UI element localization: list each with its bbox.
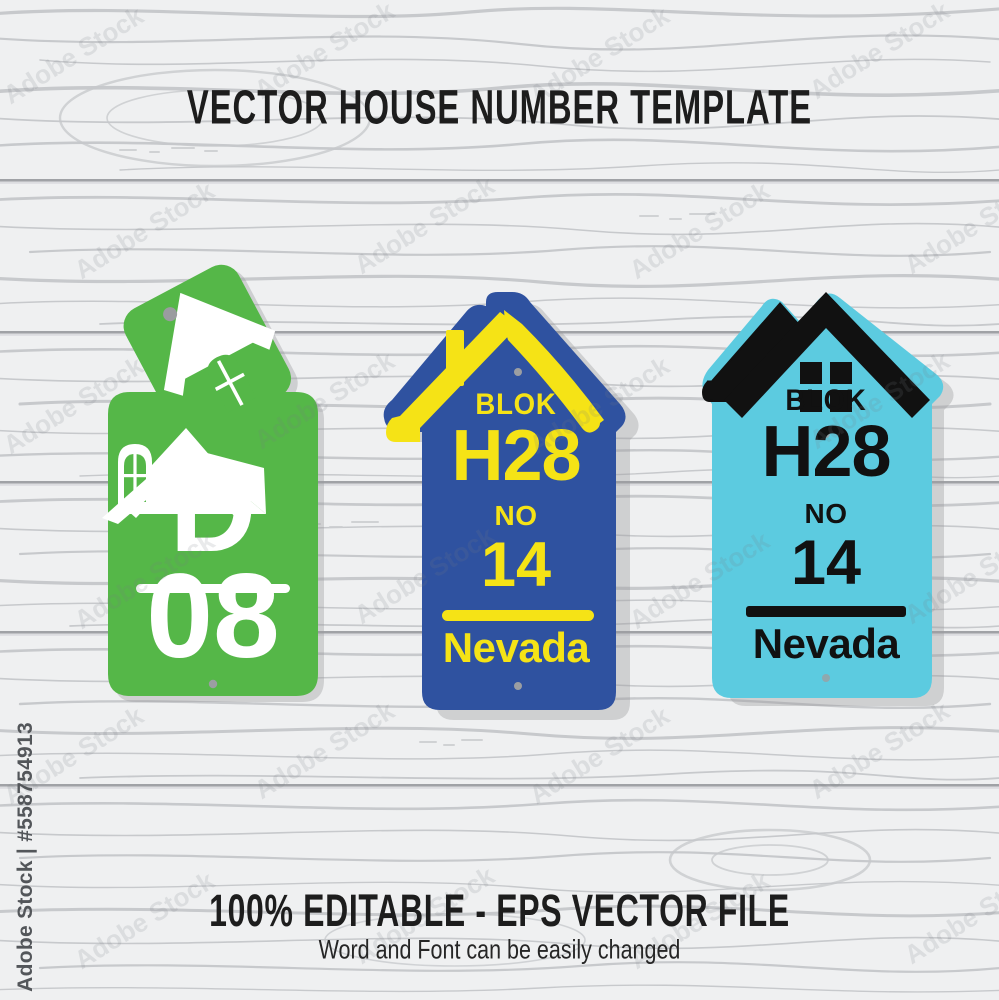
cyan-divider [746,606,906,617]
footer-headline: 100% EDITABLE - EPS VECTOR FILE [90,886,909,937]
screw-dot [822,674,830,682]
screw-dot [209,680,217,688]
page-title: VECTOR HOUSE NUMBER TEMPLATE [100,80,899,135]
footer-subtitle: Word and Font can be easily changed [70,935,929,966]
screw-dot [514,682,522,690]
sign-cyan[interactable]: BLOK H28 NO 14 Nevada [700,258,952,710]
page-footer: 100% EDITABLE - EPS VECTOR FILE Word and… [0,890,999,965]
blue-sign-body [384,292,626,710]
adobe-stock-watermark: Adobe Stock | #558754913 [14,722,38,992]
screw-dot [822,430,830,438]
sign-green[interactable]: D 08 [88,262,338,712]
poster-canvas: Adobe Stock Adobe Stock Adobe Stock Adob… [0,0,999,1000]
sign-cyan-svg [700,258,952,710]
green-sign-body [108,392,318,696]
blue-divider [442,610,594,621]
sign-blue-svg [382,296,650,720]
screw-dot [514,368,522,376]
sign-green-svg [88,262,338,712]
green-divider [136,584,290,593]
page-header: VECTOR HOUSE NUMBER TEMPLATE [0,84,999,131]
sign-blue[interactable]: BLOK H28 NO 14 Nevada [382,296,650,720]
